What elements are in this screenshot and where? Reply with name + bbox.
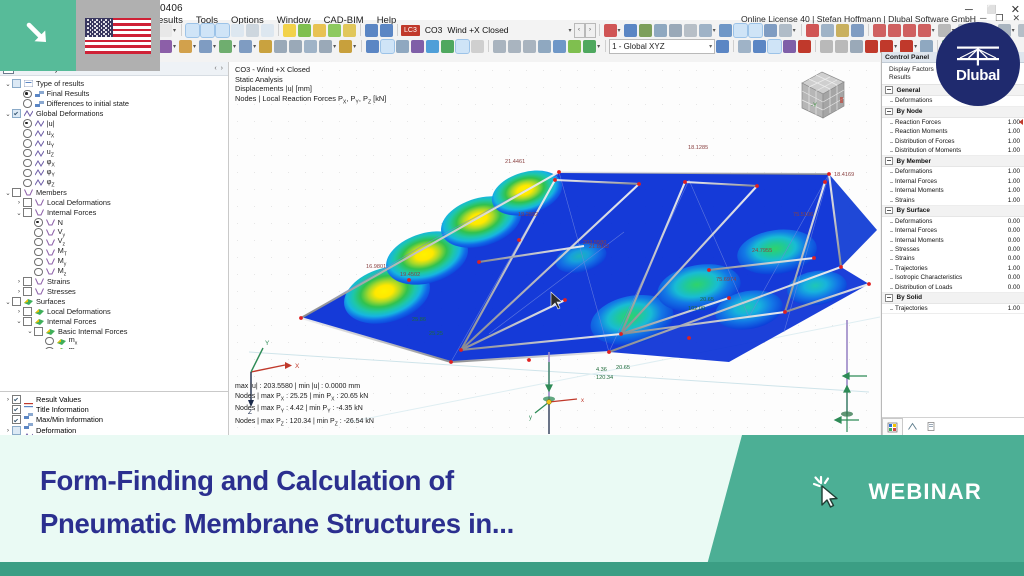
navigator-prev-icon[interactable]: ‹ — [214, 65, 216, 72]
tree-item[interactable]: ⌄Internal Forces — [0, 316, 228, 326]
control-panel-row-label: Distribution of Moments — [895, 147, 961, 154]
tree-item[interactable]: ›Strains — [0, 277, 228, 287]
tree-checkbox[interactable] — [12, 297, 21, 306]
tree-checkbox[interactable] — [12, 109, 21, 118]
load-wizard-icon[interactable] — [719, 24, 732, 37]
tree-item[interactable]: ⌄Internal Forces — [0, 208, 228, 218]
tree-expander-icon[interactable]: ⌄ — [4, 189, 12, 197]
tree-expander-icon[interactable]: › — [4, 396, 12, 403]
align-v-icon[interactable] — [508, 40, 521, 53]
scale-icon[interactable] — [920, 40, 933, 53]
control-panel: Control Panel Display Factors Results Ge… — [881, 52, 1024, 435]
tree-checkbox[interactable] — [12, 188, 21, 197]
guide-icon[interactable] — [339, 40, 352, 53]
member-icon — [35, 288, 44, 295]
result-value-label: 19.2592 — [518, 212, 538, 218]
surface-icon — [35, 308, 44, 315]
navigator-option-label: Title Information — [36, 405, 89, 414]
calculate-icon[interactable] — [313, 24, 326, 37]
tree-radio[interactable] — [34, 258, 43, 267]
tab-display-factors[interactable] — [903, 419, 922, 435]
tree-item-label: Internal Forces — [47, 208, 96, 217]
tree-checkbox[interactable] — [23, 287, 32, 296]
member-icon — [35, 209, 44, 216]
navigator-nav-buttons: ‹ › — [214, 65, 225, 72]
mesh-dropdown-icon[interactable]: ▾ — [793, 27, 796, 34]
result-values-icon — [24, 396, 33, 403]
solid-dropdown-icon[interactable]: ▾ — [713, 27, 716, 34]
tree-item-label: |u| — [47, 119, 55, 128]
tree-item-label: Strains — [47, 277, 70, 286]
control-panel-row-value[interactable]: 1.00 — [1008, 178, 1020, 185]
membrane-structure-3d-model: x y Z X Y Z — [229, 62, 880, 435]
zoom-dropdown-icon[interactable]: ▾ — [213, 43, 216, 50]
control-panel-row-value[interactable]: 1.00 — [1008, 128, 1020, 135]
node-support-icon[interactable] — [604, 24, 617, 37]
model-viewport[interactable]: x y Z X Y Z CO3 - Wind +X Closed — [229, 62, 880, 435]
tree-item[interactable]: MT — [0, 247, 228, 257]
control-panel-group-header[interactable]: By Solid — [882, 293, 1024, 304]
viewport-footer-line-3: Nodes | max PY : 4.42 | min PY : -4.35 k… — [235, 404, 374, 417]
member-create-icon[interactable] — [411, 40, 424, 53]
load-case-next-button[interactable]: › — [585, 23, 596, 38]
dimension-dropdown-icon[interactable]: ▾ — [932, 27, 935, 34]
coordinate-system-value: 1 - Global XYZ — [612, 42, 664, 51]
control-panel-row[interactable]: Stresses0.00 — [882, 245, 1024, 254]
coordinate-system-chevron-down-icon[interactable]: ▾ — [705, 43, 712, 50]
tree-item[interactable]: ›Stresses — [0, 287, 228, 297]
control-panel-row-label: Trajectories — [895, 305, 928, 312]
tree-item[interactable]: My — [0, 257, 228, 267]
tree-item[interactable]: ⌄Surfaces — [0, 297, 228, 307]
tree-checkbox[interactable] — [12, 426, 21, 435]
svg-text:x: x — [581, 398, 584, 404]
undo-dropdown-icon[interactable]: ▾ — [173, 27, 176, 34]
tab-filter[interactable] — [922, 419, 941, 435]
control-panel-row[interactable]: Internal Forces0.00 — [882, 226, 1024, 235]
tree-item-label: Surfaces — [36, 297, 65, 306]
control-panel-group-header[interactable]: By Surface — [882, 206, 1024, 217]
select-objects-icon[interactable] — [159, 40, 172, 53]
model-info-icon[interactable] — [821, 24, 834, 37]
result-value-label: 102.00 — [688, 306, 705, 312]
tree-item[interactable]: Mz — [0, 267, 228, 277]
control-panel-group-header[interactable]: By Node — [882, 107, 1024, 118]
tree-item-label: N — [58, 218, 63, 227]
tree-item[interactable]: Final Results — [0, 89, 228, 99]
navigator-option-label: Result Values — [36, 395, 81, 404]
coordinate-system-select[interactable]: 1 - Global XYZ ▾ — [609, 39, 715, 54]
result-section-icon[interactable] — [380, 24, 393, 37]
tree-checkbox[interactable] — [12, 395, 21, 404]
tree-radio[interactable] — [34, 238, 43, 247]
show-loads-icon[interactable] — [734, 24, 747, 37]
dlubal-logo-badge: Dlubal — [936, 22, 1020, 106]
tree-checkbox[interactable] — [23, 208, 32, 217]
delete-icon[interactable] — [865, 40, 878, 53]
control-panel-row[interactable]: Trajectories1.00 — [882, 304, 1024, 313]
result-colors-icon[interactable] — [583, 40, 596, 53]
control-panel-tabs — [882, 417, 1024, 435]
navigator-option-row[interactable]: Max/Min Information — [0, 415, 228, 425]
align-c-icon[interactable] — [523, 40, 536, 53]
control-panel-row-label: Deformations — [895, 97, 932, 104]
control-panel-row-label: Reaction Forces — [895, 119, 941, 126]
background-icon[interactable] — [1018, 24, 1024, 37]
tree-expander-icon[interactable]: ⌄ — [4, 110, 12, 118]
surface-icon — [35, 318, 44, 325]
collapse-toggle-icon[interactable] — [885, 294, 893, 302]
tree-radio[interactable] — [23, 179, 32, 188]
select-dropdown-icon[interactable]: ▾ — [173, 43, 176, 50]
work-plane-icon[interactable] — [738, 40, 751, 53]
load-icon[interactable] — [283, 24, 296, 37]
plane-custom-icon[interactable] — [798, 40, 811, 53]
surface-set-icon[interactable] — [441, 40, 454, 53]
banner-green-wedge — [704, 435, 1024, 576]
plane-xy-icon[interactable] — [753, 40, 766, 53]
deformation-icon — [35, 120, 44, 127]
tree-item-label: Mz — [58, 266, 67, 277]
control-panel-row-value[interactable]: 1.00 — [1008, 138, 1020, 145]
tree-item[interactable]: mx — [0, 336, 228, 346]
tree-radio[interactable] — [23, 169, 32, 178]
member-icon — [46, 268, 55, 275]
banner-title-line-1: Form-Finding and Calculation of — [40, 459, 660, 502]
member-hinge-icon[interactable] — [624, 24, 637, 37]
tree-expander-icon[interactable]: › — [15, 308, 23, 315]
rotate-view-icon[interactable] — [219, 40, 232, 53]
control-panel-groups[interactable]: GeneralDeformationsBy NodeReaction Force… — [882, 85, 1024, 314]
tree-radio[interactable] — [34, 248, 43, 257]
load-case-id: CO3 — [425, 25, 442, 35]
control-panel-row[interactable]: Strains1.00 — [882, 195, 1024, 204]
rotate-dropdown-icon[interactable]: ▾ — [233, 43, 236, 50]
control-panel-row-value[interactable]: 0.00 — [1008, 274, 1020, 281]
collapse-toggle-icon[interactable] — [885, 207, 893, 215]
result-value-label: 4.36 — [596, 367, 607, 373]
svg-text:X: X — [295, 363, 300, 370]
deformation-icon — [24, 110, 33, 117]
align-d-icon[interactable] — [538, 40, 551, 53]
tree-item[interactable]: ⌄Global Deformations — [0, 109, 228, 119]
control-panel-row[interactable]: Reaction Moments1.00 — [882, 127, 1024, 136]
tree-checkbox[interactable] — [12, 405, 21, 414]
extrude-dropdown-icon[interactable]: ▾ — [894, 43, 897, 50]
deformation-icon — [35, 150, 44, 157]
tree-item[interactable]: |u| — [0, 119, 228, 129]
control-panel-group: By MemberDeformations1.00Internal Forces… — [882, 156, 1024, 206]
tree-checkbox[interactable] — [23, 277, 32, 286]
control-panel-row-value[interactable]: 0.00 — [1008, 237, 1020, 244]
control-panel-row-value[interactable]: 1.00 — [1008, 305, 1020, 312]
tree-radio[interactable] — [23, 129, 32, 138]
coordinate-snap-dropdown-icon[interactable]: ▾ — [333, 43, 336, 50]
node-support-dropdown-icon[interactable]: ▾ — [618, 27, 621, 34]
rigid-link-icon[interactable] — [684, 24, 697, 37]
tree-item[interactable]: uX — [0, 128, 228, 138]
view-single-icon[interactable] — [186, 24, 199, 37]
mesh-refine-icon[interactable] — [456, 40, 469, 53]
results-tree[interactable]: ⌄Type of resultsFinal ResultsDifferences… — [0, 76, 228, 349]
tree-checkbox[interactable] — [12, 79, 21, 88]
tree-item[interactable]: ›Local Deformations — [0, 306, 228, 316]
control-panel-row-value[interactable]: 0.00 — [1008, 246, 1020, 253]
load-case-badge: LC3 — [401, 25, 420, 36]
control-panel-row[interactable]: Deformations0.00 — [882, 217, 1024, 226]
control-panel-row-value[interactable]: 0.00 — [1008, 284, 1020, 291]
tree-item[interactable]: Differences to initial state — [0, 99, 228, 109]
tree-checkbox[interactable] — [23, 317, 32, 326]
node-icon[interactable] — [366, 40, 379, 53]
colors-icon[interactable] — [568, 40, 581, 53]
undo-icon[interactable] — [159, 24, 172, 37]
ortho-icon[interactable] — [289, 40, 302, 53]
tree-item[interactable]: my — [0, 346, 228, 349]
plane-xz-icon[interactable] — [783, 40, 796, 53]
result-value-label: 24.7955 — [752, 248, 772, 254]
control-panel-group-header[interactable]: By Member — [882, 156, 1024, 167]
section-icon[interactable] — [851, 24, 864, 37]
line-support-icon[interactable] — [639, 24, 652, 37]
collapse-toggle-icon[interactable] — [885, 108, 893, 116]
navigator-option-row[interactable]: Title Information — [0, 404, 228, 414]
result-value-label: 19.4502 — [400, 272, 420, 278]
collapse-toggle-icon[interactable] — [885, 86, 893, 94]
view-render-icon[interactable] — [231, 24, 244, 37]
dimension-x-icon[interactable] — [873, 24, 886, 37]
tree-checkbox[interactable] — [23, 307, 32, 316]
view-grid-icon[interactable] — [216, 24, 229, 37]
load-case-dropdown-icon[interactable]: ▾ — [569, 27, 572, 34]
grid-snap-icon[interactable] — [274, 40, 287, 53]
result-diagram-icon[interactable] — [365, 24, 378, 37]
navigator-option-row[interactable]: ›Result Values — [0, 394, 228, 404]
tree-item[interactable]: uZ — [0, 148, 228, 158]
navigator-next-icon[interactable]: › — [221, 65, 223, 72]
dimension-y-icon[interactable] — [888, 24, 901, 37]
control-panel-row-label: Internal Moments — [895, 187, 944, 194]
tree-checkbox[interactable] — [23, 198, 32, 207]
align-h-icon[interactable] — [493, 40, 506, 53]
tree-radio[interactable] — [34, 218, 43, 227]
result-value-label: 203.5580 — [583, 240, 606, 246]
control-panel-row[interactable]: Internal Forces1.00 — [882, 177, 1024, 186]
navigator-option-label: Deformation — [36, 426, 76, 435]
line-hinge-icon[interactable] — [471, 40, 484, 53]
control-panel-group-title: By Surface — [897, 207, 930, 214]
control-panel-title: Control Panel — [885, 54, 929, 61]
move-icon[interactable] — [820, 40, 833, 53]
lighting-dropdown-icon[interactable]: ▾ — [1012, 27, 1015, 34]
tree-expander-icon[interactable]: ⌄ — [15, 317, 23, 325]
control-panel-row-value[interactable]: 0.00 — [1008, 255, 1020, 262]
control-panel-group: By SurfaceDeformations0.00Internal Force… — [882, 206, 1024, 293]
nodal-release-icon[interactable] — [669, 24, 682, 37]
us-flag-icon — [85, 18, 151, 54]
zoom-window-icon[interactable] — [199, 40, 212, 53]
tree-radio[interactable] — [45, 347, 54, 349]
coordinate-snap-icon[interactable] — [319, 40, 332, 53]
tree-item[interactable]: ⌄Members — [0, 188, 228, 198]
tree-radio[interactable] — [23, 139, 32, 148]
banner-bottom-bar — [0, 562, 1024, 576]
tree-item[interactable]: N — [0, 217, 228, 227]
tree-radio[interactable] — [34, 268, 43, 277]
control-panel-row-value[interactable]: 0.00 — [1008, 227, 1020, 234]
load-case-name: Wind +X Closed — [447, 25, 508, 35]
zoom-results-icon[interactable] — [298, 24, 311, 37]
tree-checkbox[interactable] — [34, 327, 43, 336]
tree-radio[interactable] — [34, 228, 43, 237]
dimension-z-icon[interactable] — [903, 24, 916, 37]
control-panel-row[interactable]: Deformations1.00 — [882, 167, 1024, 176]
calculate-all-icon[interactable] — [328, 24, 341, 37]
line-icon[interactable] — [381, 40, 394, 53]
tree-expander-icon[interactable]: › — [15, 288, 23, 295]
object-snap-icon[interactable] — [304, 40, 317, 53]
mesh-icon[interactable] — [779, 24, 792, 37]
rotate-objects-dropdown-icon[interactable]: ▾ — [914, 43, 917, 50]
imperfection-icon[interactable] — [764, 24, 777, 37]
control-panel-row-label: Internal Forces — [895, 227, 937, 234]
surface-support-icon[interactable] — [654, 24, 667, 37]
control-panel-row[interactable]: Isotropic Characteristics0.00 — [882, 273, 1024, 282]
view-preset-icon[interactable] — [239, 40, 252, 53]
load-case-prev-button[interactable]: ‹ — [574, 23, 585, 38]
final-results-icon — [35, 90, 44, 97]
tree-item[interactable]: ›Local Deformations — [0, 198, 228, 208]
tree-item[interactable]: φZ — [0, 178, 228, 188]
tree-radio[interactable] — [23, 149, 32, 158]
control-panel-row-label: Stresses — [895, 246, 920, 253]
tree-item[interactable]: φY — [0, 168, 228, 178]
collapse-toggle-icon[interactable] — [885, 157, 893, 165]
control-panel-row[interactable]: Trajectories1.00 — [882, 264, 1024, 273]
view-split-icon[interactable] — [201, 24, 214, 37]
printer-icon[interactable] — [261, 24, 274, 37]
tree-item[interactable]: Vz — [0, 237, 228, 247]
member-icon — [24, 189, 33, 196]
tab-color-scale[interactable] — [882, 418, 903, 435]
tree-item[interactable]: uY — [0, 138, 228, 148]
pan-dropdown-icon[interactable]: ▾ — [193, 43, 196, 50]
result-value-label: 18.4169 — [834, 172, 854, 178]
tree-item[interactable]: ⌄Type of results — [0, 79, 228, 89]
guide-dropdown-icon[interactable]: ▾ — [353, 43, 356, 50]
control-panel-row-value[interactable]: 1.00 — [1008, 187, 1020, 194]
pan-icon[interactable] — [179, 40, 192, 53]
tree-expander-icon[interactable]: ⌄ — [26, 327, 34, 335]
tree-expander-icon[interactable]: ⌄ — [15, 209, 23, 217]
control-panel-row[interactable]: Internal Moments0.00 — [882, 235, 1024, 244]
copy-icon[interactable] — [835, 40, 848, 53]
tree-expander-icon[interactable]: ⌄ — [4, 80, 12, 88]
tree-item-label: Local Deformations — [47, 307, 111, 316]
tree-item-label: Local Deformations — [47, 198, 111, 207]
tree-item-label: Members — [36, 188, 67, 197]
control-panel-row-label: Strains — [895, 197, 915, 204]
svg-text:y: y — [529, 415, 532, 421]
snap-icon[interactable] — [259, 40, 272, 53]
surface-icon — [57, 338, 66, 345]
view-preset-dropdown-icon[interactable]: ▾ — [253, 43, 256, 50]
member-icon — [46, 258, 55, 265]
tree-item-label: Final Results — [47, 89, 90, 98]
tree-expander-icon[interactable]: › — [15, 278, 23, 285]
tree-radio[interactable] — [23, 90, 32, 99]
control-panel-row[interactable]: Distribution of Moments1.00 — [882, 146, 1024, 155]
control-panel-row[interactable]: Internal Moments1.00 — [882, 186, 1024, 195]
tree-expander-icon[interactable]: ⌄ — [4, 298, 12, 306]
svg-text:-Y: -Y — [811, 103, 817, 109]
control-panel-row[interactable]: Distribution of Forces1.00 — [882, 136, 1024, 145]
webinar-banner: Form-Finding and Calculation of Pneumati… — [0, 435, 1024, 576]
surface-create-icon[interactable] — [396, 40, 409, 53]
control-panel-row-value[interactable]: 1.00 — [1008, 147, 1020, 154]
tree-radio[interactable] — [23, 99, 32, 108]
dimension-all-icon[interactable] — [918, 24, 931, 37]
table-icon[interactable] — [343, 24, 356, 37]
tree-item[interactable]: φX — [0, 158, 228, 168]
control-panel-row[interactable]: Reaction Forces1.00 — [882, 118, 1024, 127]
view-navigation-cube[interactable]: -Y — [794, 67, 850, 125]
result-value-label: 20.65 — [616, 365, 630, 371]
delete-results-icon[interactable] — [806, 24, 819, 37]
show-results-icon[interactable] — [749, 24, 762, 37]
print-preview-icon[interactable] — [246, 24, 259, 37]
results-icon — [24, 80, 33, 87]
angle-icon[interactable] — [553, 40, 566, 53]
tree-item[interactable]: ⌄Basic Internal Forces — [0, 326, 228, 336]
control-panel-row-value[interactable]: 1.00 — [1008, 265, 1020, 272]
result-value-label: 75.5106 — [793, 212, 813, 218]
tree-expander-icon[interactable]: › — [4, 427, 12, 434]
tree-expander-icon[interactable]: › — [15, 199, 23, 206]
solid-create-icon[interactable] — [426, 40, 439, 53]
solid-icon[interactable] — [699, 24, 712, 37]
control-panel-row[interactable]: Distribution of Loads0.00 — [882, 282, 1024, 291]
tree-radio[interactable] — [45, 337, 54, 346]
mirror-icon[interactable] — [850, 40, 863, 53]
language-flag-badge — [76, 0, 160, 71]
tree-radio[interactable] — [23, 159, 32, 168]
deformation-icon — [35, 130, 44, 137]
ucs-icon[interactable] — [716, 40, 729, 53]
tree-checkbox[interactable] — [12, 415, 21, 424]
tree-item[interactable]: Vy — [0, 227, 228, 237]
banner-title: Form-Finding and Calculation of Pneumati… — [40, 459, 660, 545]
material-icon[interactable] — [836, 24, 849, 37]
control-panel-group-title: By Member — [897, 158, 931, 165]
deformation-icon — [35, 160, 44, 167]
navigator-footer-options[interactable]: ›Result ValuesTitle InformationMax/Min I… — [0, 391, 228, 435]
viewport-footer-line-4: Nodes | max PZ : 120.34 | min PZ : -26.5… — [235, 417, 374, 430]
navigator-option-row[interactable]: ›Deformation — [0, 425, 228, 435]
control-panel-row-value[interactable]: 0.00 — [1008, 218, 1020, 225]
control-panel-row[interactable]: Strains0.00 — [882, 254, 1024, 263]
title-info-icon — [24, 406, 33, 413]
tree-radio[interactable] — [23, 119, 32, 128]
control-panel-row-value[interactable]: 1.00 — [1008, 197, 1020, 204]
plane-yz-icon[interactable] — [768, 40, 781, 53]
tree-item-label: Type of results — [36, 79, 84, 88]
result-colors-dropdown-icon[interactable]: ▾ — [597, 43, 600, 50]
control-panel-row-label: Distribution of Loads — [895, 284, 952, 291]
control-panel-row-value[interactable]: 1.00 — [1008, 168, 1020, 175]
rotate-objects-icon[interactable] — [900, 40, 913, 53]
extrude-icon[interactable] — [880, 40, 893, 53]
